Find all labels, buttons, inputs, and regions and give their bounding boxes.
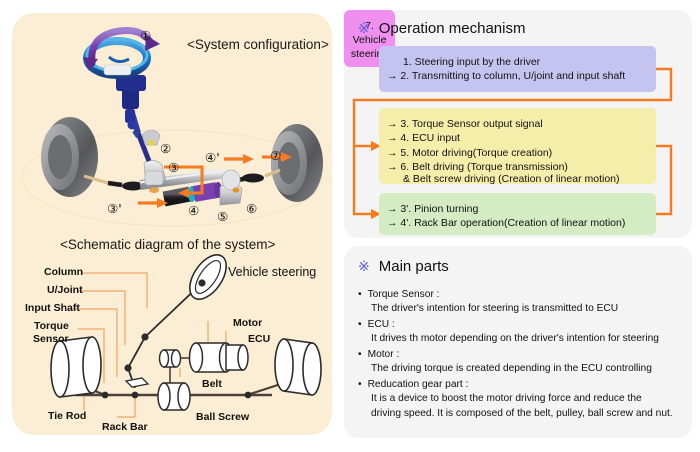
- list-item: Torque Sensor : The driver's intention f…: [358, 288, 680, 317]
- part-desc: driving speed. It is composed of the bel…: [358, 407, 680, 421]
- flow-line: → 3. Torque Sensor output signal: [387, 119, 648, 130]
- main-parts-panel: ※ Main parts Torque Sensor : The driver'…: [344, 246, 692, 438]
- label-ball-screw: Ball Screw: [196, 411, 249, 423]
- left-illustration-panel: ① ② ③ ③' ④ ④' ⑤ ⑥ ⑦ <System configuratio…: [12, 13, 332, 435]
- schematic-left-wheel: [51, 337, 101, 397]
- label-tie-rod: Tie Rod: [48, 410, 86, 422]
- callout-1: ①: [140, 28, 151, 43]
- callout-4-prime: ④': [205, 150, 220, 165]
- column-line: [128, 283, 202, 388]
- part-desc: The driving torque is created depending …: [358, 362, 680, 376]
- label-input-shaft: Input Shaft: [25, 302, 80, 314]
- flow-line: → 2. Transmitting to column, U/joint and…: [387, 71, 648, 82]
- label-motor: Motor: [233, 317, 262, 329]
- flow-step-box-manual: → 3'. Pinion turning → 4'. Rack Bar oper…: [379, 193, 656, 235]
- flow-line: → 6. Belt driving (Torque transmission): [387, 162, 648, 173]
- left-tire-icon: [41, 117, 98, 197]
- label-torque-sensor-2: Sensor: [33, 333, 69, 345]
- flow-line: → 3'. Pinion turning: [387, 204, 648, 215]
- main-parts-header: ※ Main parts: [358, 258, 449, 275]
- flow-step-box-assist: → 3. Torque Sensor output signal → 4. EC…: [379, 108, 656, 184]
- operation-mechanism-panel: ※ Operation mechanism 1. Steering input …: [344, 10, 692, 238]
- label-torque-sensor: Torque: [34, 320, 69, 332]
- flow-line: → 4. ECU input: [387, 133, 648, 144]
- label-vehicle-steering: Vehicle steering: [228, 265, 316, 279]
- callout-2: ②: [160, 141, 171, 156]
- part-term: Reducation gear part :: [358, 378, 680, 392]
- flow-line: → 4'. Rack Bar operation(Creation of lin…: [387, 218, 648, 229]
- schematic-diagram-title: <Schematic diagram of the system>: [60, 237, 275, 252]
- part-desc: It drives th motor depending on the driv…: [358, 332, 680, 346]
- main-parts-title: Main parts: [379, 258, 449, 275]
- part-term: Motor :: [358, 348, 680, 362]
- main-parts-list: Torque Sensor : The driver's intention f…: [358, 288, 680, 422]
- ball-screw-icon: [158, 383, 190, 410]
- flow-line: → 5. Motor driving(Torque creation): [387, 148, 648, 159]
- label-column: Column: [44, 266, 83, 278]
- right-tire-icon: [271, 124, 323, 202]
- torque-sensor-icon: [126, 378, 148, 387]
- label-ecu: ECU: [248, 333, 270, 345]
- label-ujoint: U/Joint: [47, 284, 83, 296]
- flow-line: 1. Steering input by the driver: [387, 57, 648, 68]
- schematic-diagram: [12, 255, 332, 435]
- callout-6: ⑥: [246, 201, 257, 216]
- motor-ecu-icon: [177, 343, 248, 372]
- schematic-right-wheel: [275, 339, 321, 395]
- part-desc: The driver's intention for steering is t…: [358, 302, 680, 316]
- label-rack-bar: Rack Bar: [102, 421, 148, 433]
- steering-column-icon: [116, 75, 149, 161]
- part-term: ECU :: [358, 318, 680, 332]
- callout-3-prime: ③': [107, 201, 122, 216]
- callout-7: ⑦: [270, 148, 281, 163]
- system-configuration-title: <System configuration>: [187, 37, 329, 52]
- callout-3: ③: [168, 160, 179, 175]
- list-item: Reducation gear part : It is a device to…: [358, 378, 680, 421]
- schematic-steering-wheel: [182, 248, 233, 305]
- list-item: ECU : It drives th motor depending on th…: [358, 318, 680, 347]
- flow-line: & Belt screw driving (Creation of linear…: [387, 174, 648, 185]
- part-desc: It is a device to boost the motor drivin…: [358, 392, 680, 406]
- reference-mark-icon: ※: [358, 259, 370, 275]
- list-item: Motor : The driving torque is created de…: [358, 348, 680, 377]
- flow-step-box-input: 1. Steering input by the driver → 2. Tra…: [379, 46, 656, 92]
- pulley-icon: [160, 350, 181, 367]
- callout-4: ④: [188, 203, 199, 218]
- callout-5: ⑤: [217, 209, 228, 224]
- label-belt: Belt: [202, 378, 222, 390]
- part-term: Torque Sensor :: [358, 288, 680, 302]
